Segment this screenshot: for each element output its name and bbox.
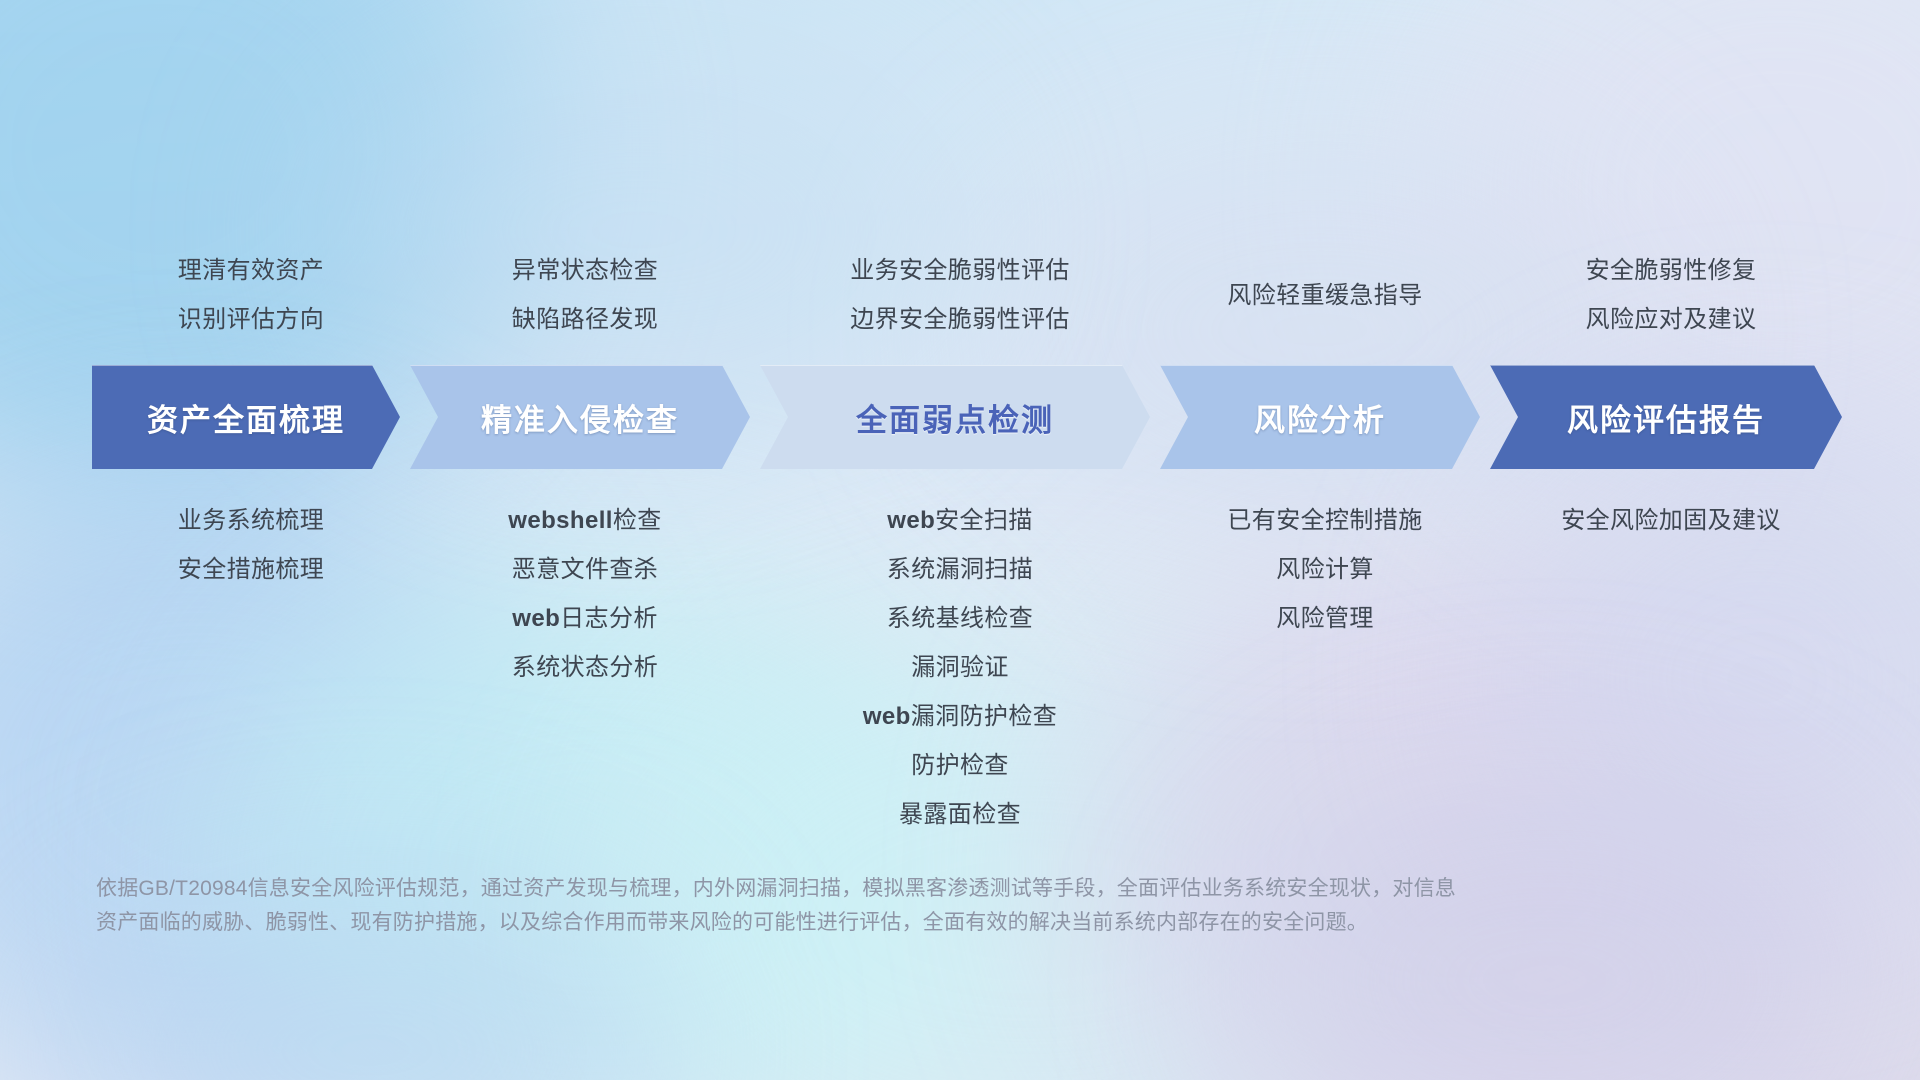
detail-list-item: web安全扫描	[887, 496, 1033, 545]
top-annotation-item: 识别评估方向	[178, 295, 324, 344]
chevron-stage-2[interactable]: 精准入侵检查	[410, 365, 750, 469]
chevron-title: 资产全面梳理	[147, 395, 345, 440]
chevron-title: 全面弱点检测	[856, 395, 1054, 440]
footer-line-1: 依据GB/T20984信息安全风险评估规范，通过资产发现与梳理，内外网漏洞扫描，…	[96, 872, 1616, 906]
detail-list-item: 漏洞验证	[911, 643, 1009, 692]
top-annotation-item: 安全脆弱性修复	[1586, 246, 1757, 295]
footer-description: 依据GB/T20984信息安全风险评估规范，通过资产发现与梳理，内外网漏洞扫描，…	[96, 872, 1616, 940]
diagram-content: 理清有效资产识别评估方向异常状态检查缺陷路径发现业务安全脆弱性评估边界安全脆弱性…	[0, 0, 1920, 1080]
detail-list-item: 系统漏洞扫描	[887, 545, 1033, 594]
chevron-stage-1[interactable]: 资产全面梳理	[92, 365, 400, 469]
detail-list-item: 风险计算	[1276, 545, 1374, 594]
detail-list-column-1: 业务系统梳理安全措施梳理	[92, 496, 410, 836]
process-chevron-bar: 资产全面梳理精准入侵检查全面弱点检测风险分析风险评估报告	[92, 365, 1852, 469]
detail-list-item: 暴露面检查	[899, 790, 1021, 839]
detail-list-item: 安全风险加固及建议	[1561, 496, 1781, 545]
detail-list-item: 风险管理	[1276, 594, 1374, 643]
top-annotation-item: 缺陷路径发现	[512, 295, 658, 344]
top-annotation-column-3: 业务安全脆弱性评估边界安全脆弱性评估	[760, 168, 1160, 358]
top-annotation-item: 业务安全脆弱性评估	[850, 246, 1070, 295]
top-annotation-item: 风险轻重缓急指导	[1227, 271, 1422, 320]
top-annotation-column-1: 理清有效资产识别评估方向	[92, 168, 410, 358]
detail-list-column-4: 已有安全控制措施风险计算风险管理	[1160, 496, 1490, 836]
detail-list-column-3: web安全扫描系统漏洞扫描系统基线检查漏洞验证web漏洞防护检查防护检查暴露面检…	[760, 496, 1160, 836]
detail-list-item: 业务系统梳理	[178, 496, 324, 545]
detail-list-item: 安全措施梳理	[178, 545, 324, 594]
bottom-detail-lists: 业务系统梳理安全措施梳理webshell检查恶意文件查杀web日志分析系统状态分…	[92, 496, 1852, 836]
chevron-title: 精准入侵检查	[481, 395, 679, 440]
top-annotation-column-5: 安全脆弱性修复风险应对及建议	[1490, 168, 1852, 358]
detail-list-column-2: webshell检查恶意文件查杀web日志分析系统状态分析	[410, 496, 760, 836]
detail-list-item: 已有安全控制措施	[1227, 496, 1422, 545]
chevron-stage-5[interactable]: 风险评估报告	[1490, 365, 1842, 469]
detail-list-item: 恶意文件查杀	[512, 545, 658, 594]
top-annotation-item: 理清有效资产	[178, 246, 324, 295]
detail-list-column-5: 安全风险加固及建议	[1490, 496, 1852, 836]
detail-list-item: 防护检查	[911, 741, 1009, 790]
chevron-title: 风险评估报告	[1567, 395, 1765, 440]
slide-canvas: 理清有效资产识别评估方向异常状态检查缺陷路径发现业务安全脆弱性评估边界安全脆弱性…	[0, 0, 1920, 1080]
detail-list-item: 系统基线检查	[887, 594, 1033, 643]
top-annotation-item: 边界安全脆弱性评估	[850, 295, 1070, 344]
top-annotation-column-2: 异常状态检查缺陷路径发现	[410, 168, 760, 358]
footer-line-2: 资产面临的威胁、脆弱性、现有防护措施，以及综合作用而带来风险的可能性进行评估，全…	[96, 906, 1616, 940]
detail-list-item: web漏洞防护检查	[863, 692, 1057, 741]
top-annotations: 理清有效资产识别评估方向异常状态检查缺陷路径发现业务安全脆弱性评估边界安全脆弱性…	[92, 168, 1852, 358]
chevron-stage-3[interactable]: 全面弱点检测	[760, 365, 1150, 469]
detail-list-item: webshell检查	[508, 496, 661, 545]
top-annotation-item: 风险应对及建议	[1586, 295, 1757, 344]
chevron-title: 风险分析	[1254, 395, 1386, 440]
top-annotation-column-4: 风险轻重缓急指导	[1160, 168, 1490, 358]
detail-list-item: web日志分析	[512, 594, 658, 643]
chevron-stage-4[interactable]: 风险分析	[1160, 365, 1480, 469]
detail-list-item: 系统状态分析	[512, 643, 658, 692]
top-annotation-item: 异常状态检查	[512, 246, 658, 295]
